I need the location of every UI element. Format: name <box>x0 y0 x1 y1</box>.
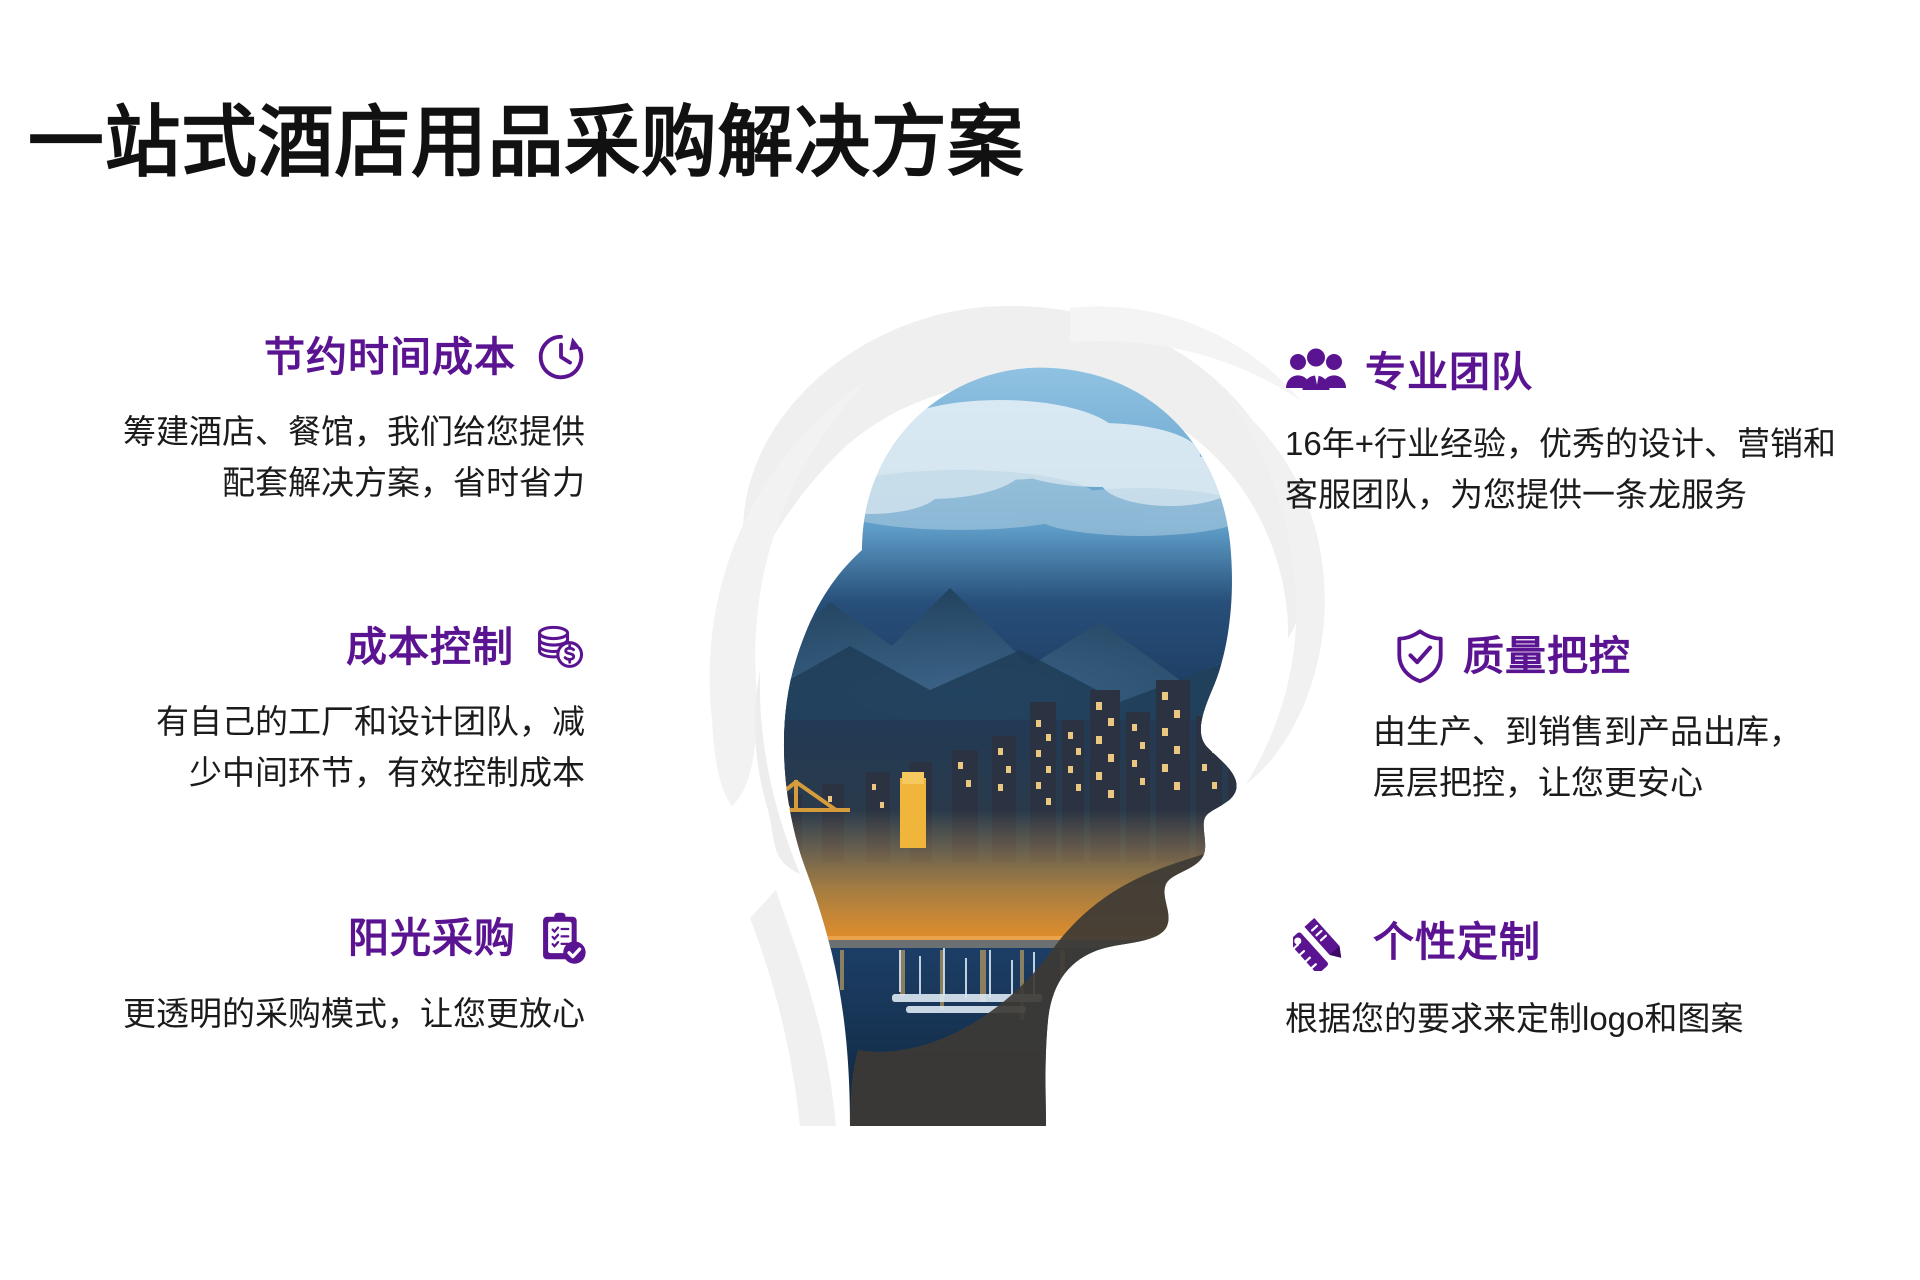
feature-body: 16年+行业经验，优秀的设计、营销和 客服团队，为您提供一条龙服务 <box>1285 418 1920 520</box>
feature-body: 更透明的采购模式，让您更放心 <box>0 988 640 1039</box>
shield-check-icon <box>1395 628 1445 684</box>
feature-heading: 成本控制 <box>0 620 640 674</box>
feature-heading: 个性定制 <box>1285 913 1920 971</box>
head-silhouette-cityscape <box>600 250 1360 1200</box>
feature-title: 阳光采购 <box>348 918 516 959</box>
feature-professional-team: 专业团队 16年+行业经验，优秀的设计、营销和 客服团队，为您提供一条龙服务 <box>1285 348 1920 520</box>
feature-title: 成本控制 <box>346 627 514 668</box>
feature-heading: 节约时间成本 <box>0 330 640 384</box>
feature-title: 质量把控 <box>1463 636 1631 677</box>
clock-arrow-icon <box>534 330 588 384</box>
feature-transparent-purchasing: 阳光采购 <box>0 910 640 1039</box>
feature-heading: 阳光采购 <box>0 910 640 966</box>
feature-quality-control: 质量把控 由生产、到销售到产品出库， 层层把控，让您更安心 <box>1285 628 1920 808</box>
feature-body: 筹建酒店、餐馆，我们给您提供 配套解决方案，省时省力 <box>0 406 640 508</box>
page-title: 一站式酒店用品采购解决方案 <box>28 104 1024 182</box>
feature-title: 个性定制 <box>1373 922 1541 963</box>
pencil-ruler-icon <box>1293 913 1355 971</box>
clipboard-check-icon <box>534 910 588 966</box>
feature-cost-control: 成本控制 <box>0 620 640 798</box>
feature-heading: 专业团队 <box>1285 348 1920 396</box>
feature-title: 专业团队 <box>1365 352 1533 393</box>
feature-body: 根据您的要求来定制logo和图案 <box>1285 993 1920 1044</box>
feature-title: 节约时间成本 <box>264 337 516 378</box>
infographic-page: 一站式酒店用品采购解决方案 <box>0 0 1920 1280</box>
coins-dollar-icon <box>532 620 588 674</box>
feature-customization: 个性定制 根据您的要求来定制logo和图案 <box>1285 913 1920 1044</box>
team-people-icon <box>1285 348 1347 396</box>
feature-save-time: 节约时间成本 筹建酒店、餐馆，我们给您提供 配套解决方案，省时省力 <box>0 330 640 508</box>
feature-body: 有自己的工厂和设计团队，减 少中间环节，有效控制成本 <box>0 696 640 798</box>
feature-heading: 质量把控 <box>1285 628 1920 684</box>
feature-body: 由生产、到销售到产品出库， 层层把控，让您更安心 <box>1285 706 1920 808</box>
